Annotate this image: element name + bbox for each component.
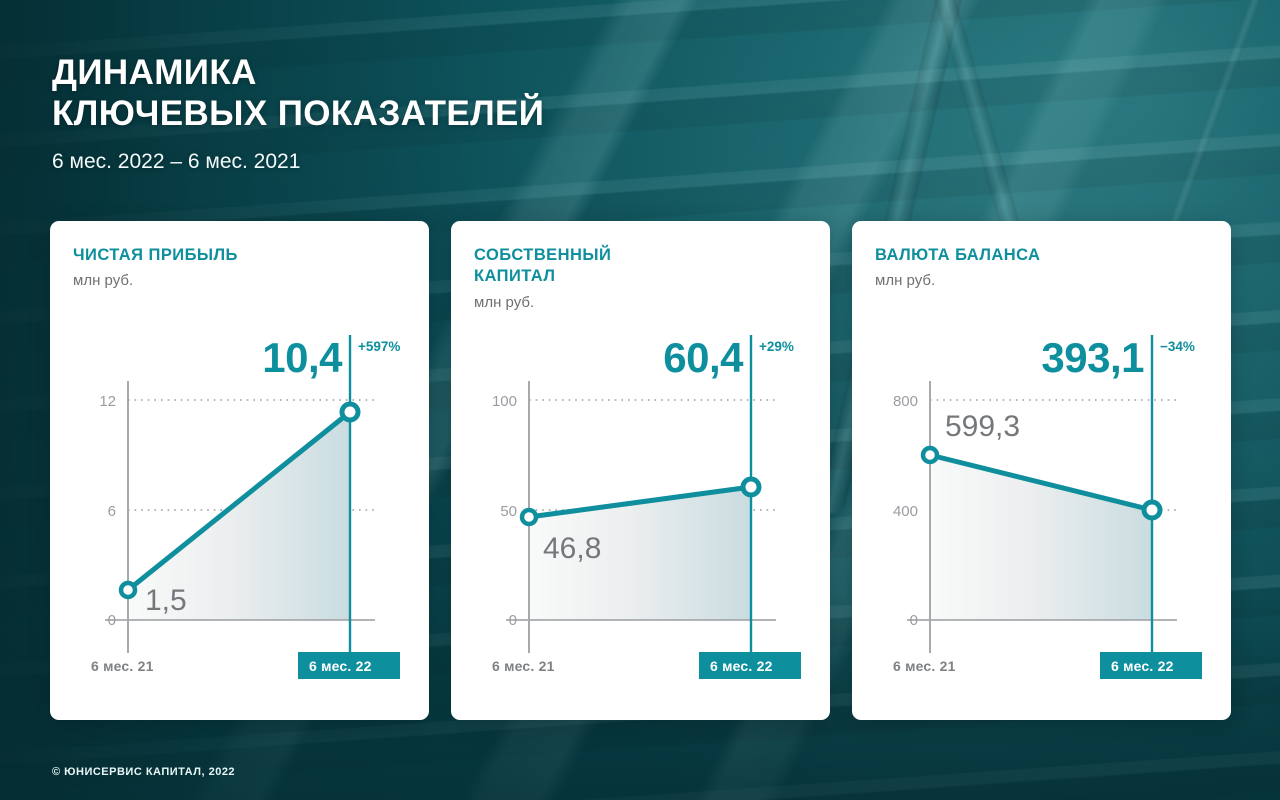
metric-card-balance-total[interactable]: ВАЛЮТА БАЛАНСА млн руб.	[852, 221, 1231, 720]
y-tick-800: 800	[893, 393, 918, 410]
data-point-start[interactable]	[121, 583, 135, 597]
start-value-label: 46,8	[543, 532, 601, 565]
x-label-prev-period: 6 мес. 21	[492, 658, 555, 674]
y-tick-0: 0	[509, 612, 517, 629]
data-point-end[interactable]	[743, 479, 759, 495]
line-chart-balance-total: 0 400 800 393,1 −34% 599,3 6 мес. 21 6 м…	[852, 221, 1231, 720]
area-fill	[930, 455, 1152, 620]
page-title: ДИНАМИКА КЛЮЧЕВЫХ ПОКАЗАТЕЛЕЙ	[52, 52, 544, 135]
start-value-label: 599,3	[945, 410, 1020, 443]
x-label-current-period: 6 мес. 22	[1111, 658, 1174, 674]
line-chart-equity: 0 50 100 60,4 +29% 46,8 6 мес. 21 6 мес.…	[451, 221, 830, 720]
page-subtitle: 6 мес. 2022 – 6 мес. 2021	[52, 149, 544, 174]
delta-badge: +29%	[759, 339, 794, 354]
y-tick-0: 0	[910, 612, 918, 629]
line-chart-net-profit: 0 6 12 10,4 +597% 1,5 6 мес. 21 6 мес. 2…	[50, 221, 429, 720]
y-tick-0: 0	[108, 612, 116, 629]
metric-card-net-profit[interactable]: ЧИСТАЯ ПРИБЫЛЬ млн руб.	[50, 221, 429, 720]
x-label-prev-period: 6 мес. 21	[91, 658, 154, 674]
y-tick-12: 12	[99, 393, 116, 410]
y-tick-6: 6	[108, 503, 116, 520]
page-title-line-2: КЛЮЧЕВЫХ ПОКАЗАТЕЛЕЙ	[52, 93, 544, 134]
data-point-end[interactable]	[342, 404, 358, 420]
y-tick-400: 400	[893, 503, 918, 520]
delta-badge: −34%	[1160, 339, 1195, 354]
header: ДИНАМИКА КЛЮЧЕВЫХ ПОКАЗАТЕЛЕЙ 6 мес. 202…	[52, 52, 544, 174]
x-label-current-period: 6 мес. 22	[710, 658, 773, 674]
end-value-label: 60,4	[663, 334, 744, 381]
copyright-footer: © ЮНИСЕРВИС КАПИТАЛ, 2022	[52, 766, 235, 778]
end-value-label: 10,4	[262, 334, 343, 381]
data-point-end[interactable]	[1144, 502, 1160, 518]
page-title-line-1: ДИНАМИКА	[52, 52, 544, 93]
x-label-current-period: 6 мес. 22	[309, 658, 372, 674]
end-value-label: 393,1	[1041, 334, 1144, 381]
y-tick-100: 100	[492, 393, 517, 410]
data-point-start[interactable]	[923, 448, 937, 462]
metric-cards-row: ЧИСТАЯ ПРИБЫЛЬ млн руб.	[50, 221, 1231, 720]
x-label-prev-period: 6 мес. 21	[893, 658, 956, 674]
delta-badge: +597%	[358, 339, 400, 354]
y-tick-50: 50	[500, 503, 517, 520]
data-point-start[interactable]	[522, 510, 536, 524]
start-value-label: 1,5	[145, 584, 187, 617]
metric-card-equity[interactable]: СОБСТВЕННЫЙКАПИТАЛ млн руб.	[451, 221, 830, 720]
